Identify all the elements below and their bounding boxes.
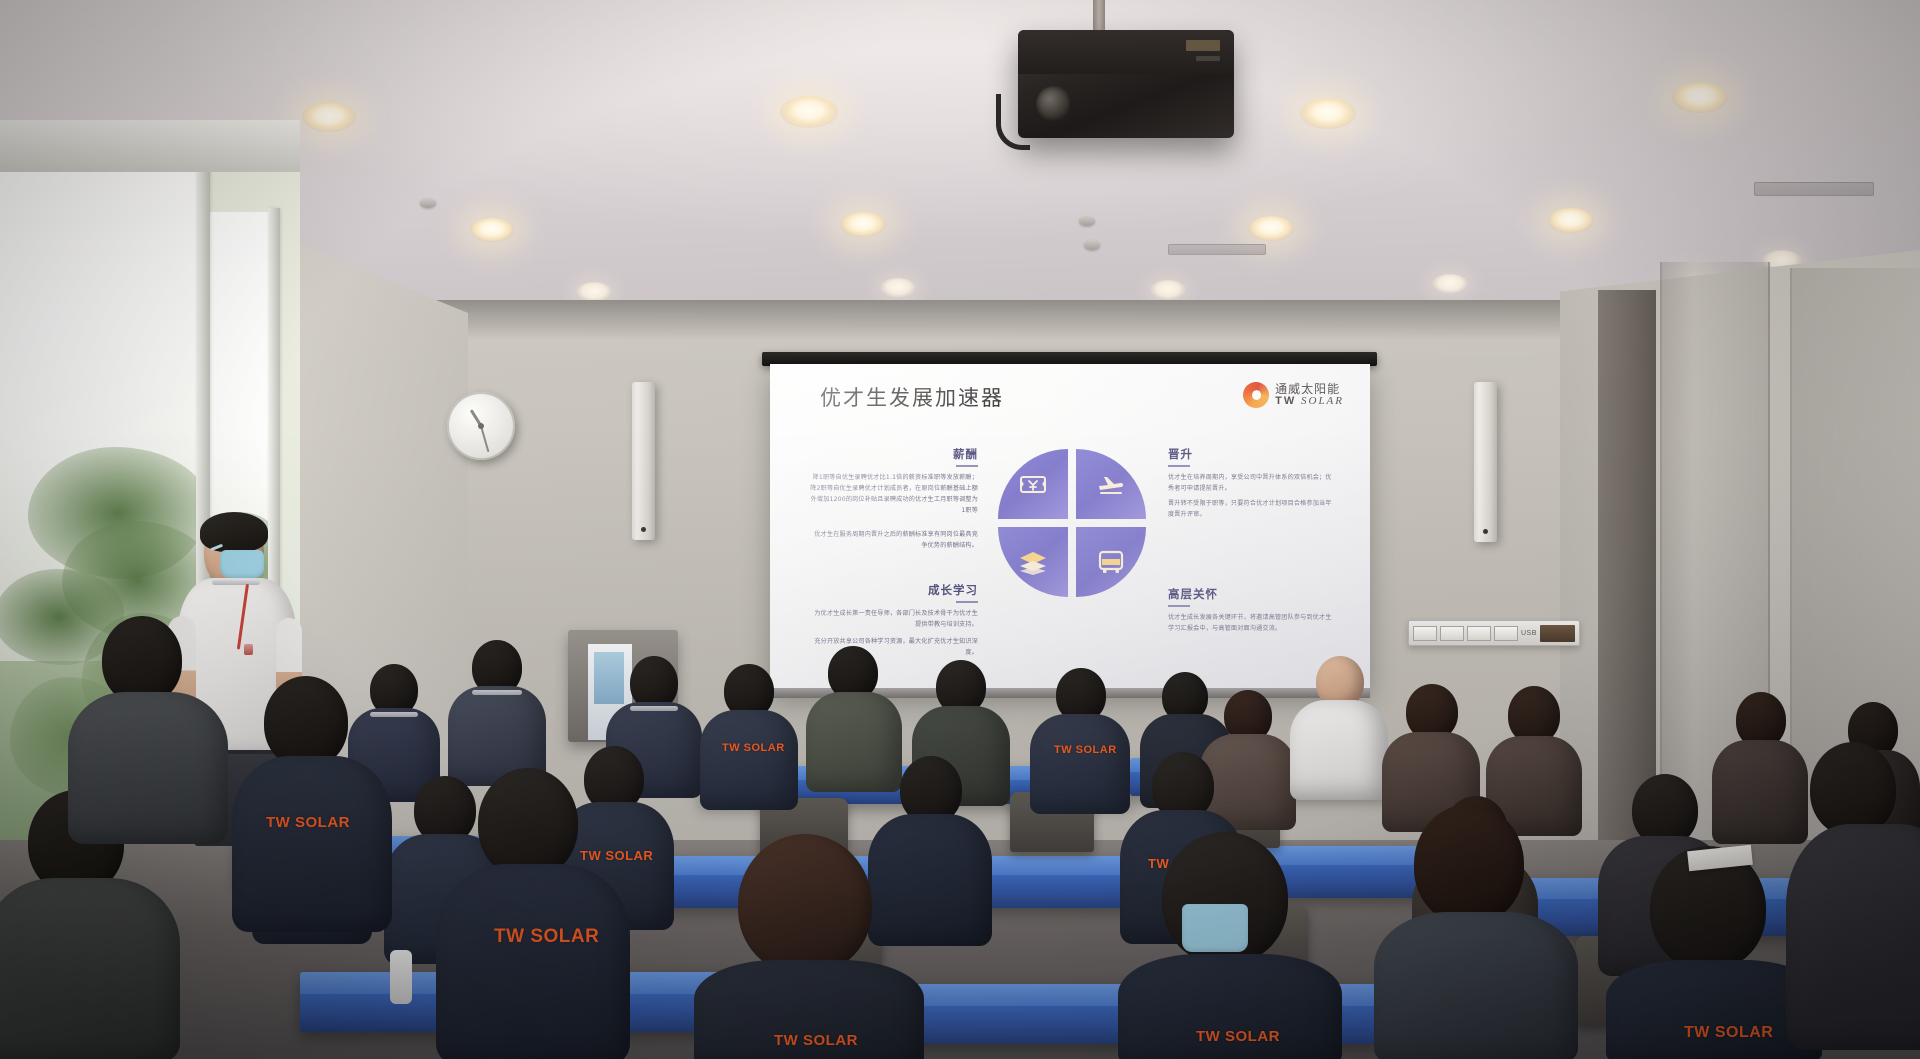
section-body-2: 优才生在服务周期内晋升之后的薪酬标准享有同岗位最具竞争优势的薪酬结构。 bbox=[810, 529, 978, 552]
cable-port[interactable] bbox=[1540, 625, 1575, 642]
ceiling-projector bbox=[1018, 30, 1234, 138]
audience-member: TW SOLAR bbox=[700, 664, 798, 804]
quadrant-salary bbox=[998, 449, 1068, 519]
audience-member: TW SOLAR bbox=[1030, 668, 1130, 808]
water-bottle bbox=[390, 950, 412, 1004]
window-head-frame bbox=[0, 120, 300, 172]
wall-clock bbox=[447, 392, 515, 460]
sprinkler-head bbox=[1084, 240, 1100, 250]
section-body: 为优才生成长第一责任导师，各部门长及技术骨干为优才生提供带教与培训支持。 bbox=[810, 608, 978, 631]
uniform-logo: TW SOLAR bbox=[722, 742, 785, 754]
ceiling-light bbox=[470, 218, 514, 242]
torso bbox=[1030, 714, 1130, 814]
projector-mount bbox=[1093, 0, 1105, 34]
head bbox=[738, 834, 872, 974]
uniform-logo: TW SOLAR bbox=[1054, 744, 1117, 756]
audience-member: TW SOLAR bbox=[442, 768, 624, 1059]
torso bbox=[1374, 912, 1578, 1059]
ceiling-vent bbox=[1754, 182, 1874, 196]
sun-swirl-icon bbox=[1243, 382, 1269, 408]
audience-member bbox=[1290, 656, 1388, 796]
ceiling-light bbox=[576, 282, 612, 302]
presentation-slide: 优才生发展加速器 通威太阳能 TW SOLAR 薪酬 降1职等自优生录聘优才比1… bbox=[770, 364, 1370, 691]
wall-switch[interactable] bbox=[1413, 626, 1437, 641]
section-rule bbox=[956, 465, 978, 467]
slide-section-promotion: 晋升 优才生在培养周期内，享受公司中晋升体系的双倍机会；优秀者可申请提前晋升。 … bbox=[1168, 446, 1336, 521]
section-rule bbox=[1168, 605, 1190, 607]
uniform-collar bbox=[630, 706, 678, 711]
brand-name-english: TW SOLAR bbox=[1275, 396, 1344, 408]
projector-lens bbox=[1036, 86, 1072, 122]
slide-title: 优才生发展加速器 bbox=[820, 382, 1004, 412]
head bbox=[1414, 804, 1524, 924]
sprinkler-head bbox=[1079, 216, 1095, 226]
uniform-logo: TW SOLAR bbox=[774, 1032, 858, 1049]
torso bbox=[0, 878, 180, 1059]
wall-switch[interactable] bbox=[1494, 626, 1518, 641]
slide-section-care: 高层关怀 优才生成长发展各关键环节，将邀请高管团队参与到优才生学习汇报会中，与高… bbox=[1168, 586, 1336, 634]
money-voucher-icon bbox=[1017, 468, 1049, 500]
usb-port-label: USB bbox=[1521, 630, 1537, 637]
brand-solar: SOLAR bbox=[1301, 395, 1344, 407]
audience-member: TW SOLAR bbox=[1614, 846, 1814, 1059]
torso bbox=[232, 756, 392, 932]
torso bbox=[68, 692, 228, 844]
clock-minute-hand bbox=[480, 426, 489, 453]
stacked-books-icon bbox=[1017, 546, 1049, 578]
uniform-logo: TW SOLAR bbox=[1196, 1028, 1280, 1045]
section-body: 优才生在培养周期内，享受公司中晋升体系的双倍机会；优秀者可申请提前晋升。 bbox=[1168, 472, 1336, 495]
section-rule bbox=[956, 601, 978, 603]
head bbox=[264, 676, 348, 768]
section-heading: 高层关怀 bbox=[1168, 586, 1336, 602]
uniform-collar bbox=[472, 690, 522, 695]
company-logo: 通威太阳能 TW SOLAR bbox=[1243, 382, 1344, 408]
face-mask bbox=[220, 550, 264, 578]
bus-icon bbox=[1095, 546, 1127, 578]
face-mask bbox=[1182, 904, 1248, 952]
section-body-2: 晋升转不受限于职等，只要符合优才计划项目合格参加当年度晋升评审。 bbox=[1168, 498, 1336, 521]
torso bbox=[700, 710, 798, 810]
projection-screen: 优才生发展加速器 通威太阳能 TW SOLAR 薪酬 降1职等自优生录聘优才比1… bbox=[770, 364, 1370, 691]
audience-member: TW SOLAR bbox=[1126, 832, 1332, 1059]
section-body: 优才生成长发展各关键环节，将邀请高管团队参与到优才生学习汇报会中，与高管面对面沟… bbox=[1168, 612, 1336, 635]
ceiling-light bbox=[1150, 280, 1186, 300]
presenter-hair bbox=[200, 512, 268, 552]
four-quadrant-diagram bbox=[998, 449, 1146, 597]
ceiling-light bbox=[302, 102, 356, 132]
audience-member bbox=[448, 640, 546, 780]
training-room-photo: USB 优才生发展加速器 通威太阳能 TW SOLAR 薪酬 降1职等自优生录聘… bbox=[0, 0, 1920, 1059]
projector-top-shell bbox=[1018, 30, 1234, 74]
uniform-logo: TW SOLAR bbox=[494, 926, 599, 948]
wall-switch[interactable] bbox=[1440, 626, 1464, 641]
audience-member bbox=[80, 616, 220, 836]
ceiling-light bbox=[840, 212, 886, 237]
section-body: 降1职等自优生录聘优才比1.1倍的薪资标准职等发放薪酬；降2职等自优生录聘优才计… bbox=[810, 472, 978, 517]
section-heading: 晋升 bbox=[1168, 446, 1336, 462]
audience-member bbox=[1380, 804, 1570, 1059]
shirt-collar bbox=[212, 580, 260, 585]
head bbox=[1810, 742, 1896, 836]
wall-switch[interactable] bbox=[1467, 626, 1491, 641]
torso bbox=[1786, 824, 1920, 1050]
head bbox=[478, 768, 578, 878]
torso bbox=[436, 864, 630, 1059]
section-heading: 薪酬 bbox=[810, 446, 978, 462]
ceiling-light bbox=[880, 278, 916, 298]
sprinkler-head bbox=[420, 198, 436, 208]
projector-label bbox=[1196, 56, 1220, 61]
id-badge bbox=[244, 644, 253, 655]
switch-and-socket-panel[interactable]: USB bbox=[1408, 620, 1580, 646]
torso bbox=[1290, 700, 1388, 800]
section-heading: 成长学习 bbox=[810, 582, 978, 598]
ceiling-light bbox=[1248, 216, 1294, 241]
ceiling-light bbox=[1432, 274, 1468, 294]
wall-speaker-right bbox=[1474, 382, 1497, 542]
back-wall-shadow bbox=[430, 300, 1600, 340]
head bbox=[102, 616, 182, 704]
brand-tw: TW bbox=[1275, 395, 1296, 407]
uniform-logo: TW SOLAR bbox=[266, 814, 350, 831]
audience-member: TW SOLAR bbox=[704, 834, 914, 1059]
brand-wordmark: 通威太阳能 TW SOLAR bbox=[1275, 383, 1344, 407]
audience-member: TW SOLAR bbox=[232, 676, 392, 928]
clock-center-pin bbox=[478, 423, 484, 429]
section-rule bbox=[1168, 465, 1190, 467]
ceiling-vent bbox=[1168, 244, 1266, 255]
ceiling-light bbox=[1548, 208, 1594, 233]
quadrant-growth bbox=[998, 527, 1068, 597]
ceiling-light bbox=[1300, 98, 1356, 129]
ceiling-light bbox=[1672, 82, 1728, 113]
speaker-indicator bbox=[1483, 529, 1488, 534]
ceiling-light bbox=[780, 96, 838, 128]
quadrant-care bbox=[1076, 527, 1146, 597]
uniform-logo: TW SOLAR bbox=[1684, 1024, 1773, 1042]
audience-member bbox=[1800, 742, 1920, 1052]
quadrant-promotion bbox=[1076, 449, 1146, 519]
projector-badge bbox=[1186, 40, 1220, 51]
slide-section-salary: 薪酬 降1职等自优生录聘优才比1.1倍的薪资标准职等发放薪酬；降2职等自优生录聘… bbox=[810, 446, 978, 551]
speaker-indicator bbox=[641, 527, 646, 532]
wall-speaker-left bbox=[632, 382, 655, 540]
airplane-takeoff-icon bbox=[1095, 468, 1127, 500]
